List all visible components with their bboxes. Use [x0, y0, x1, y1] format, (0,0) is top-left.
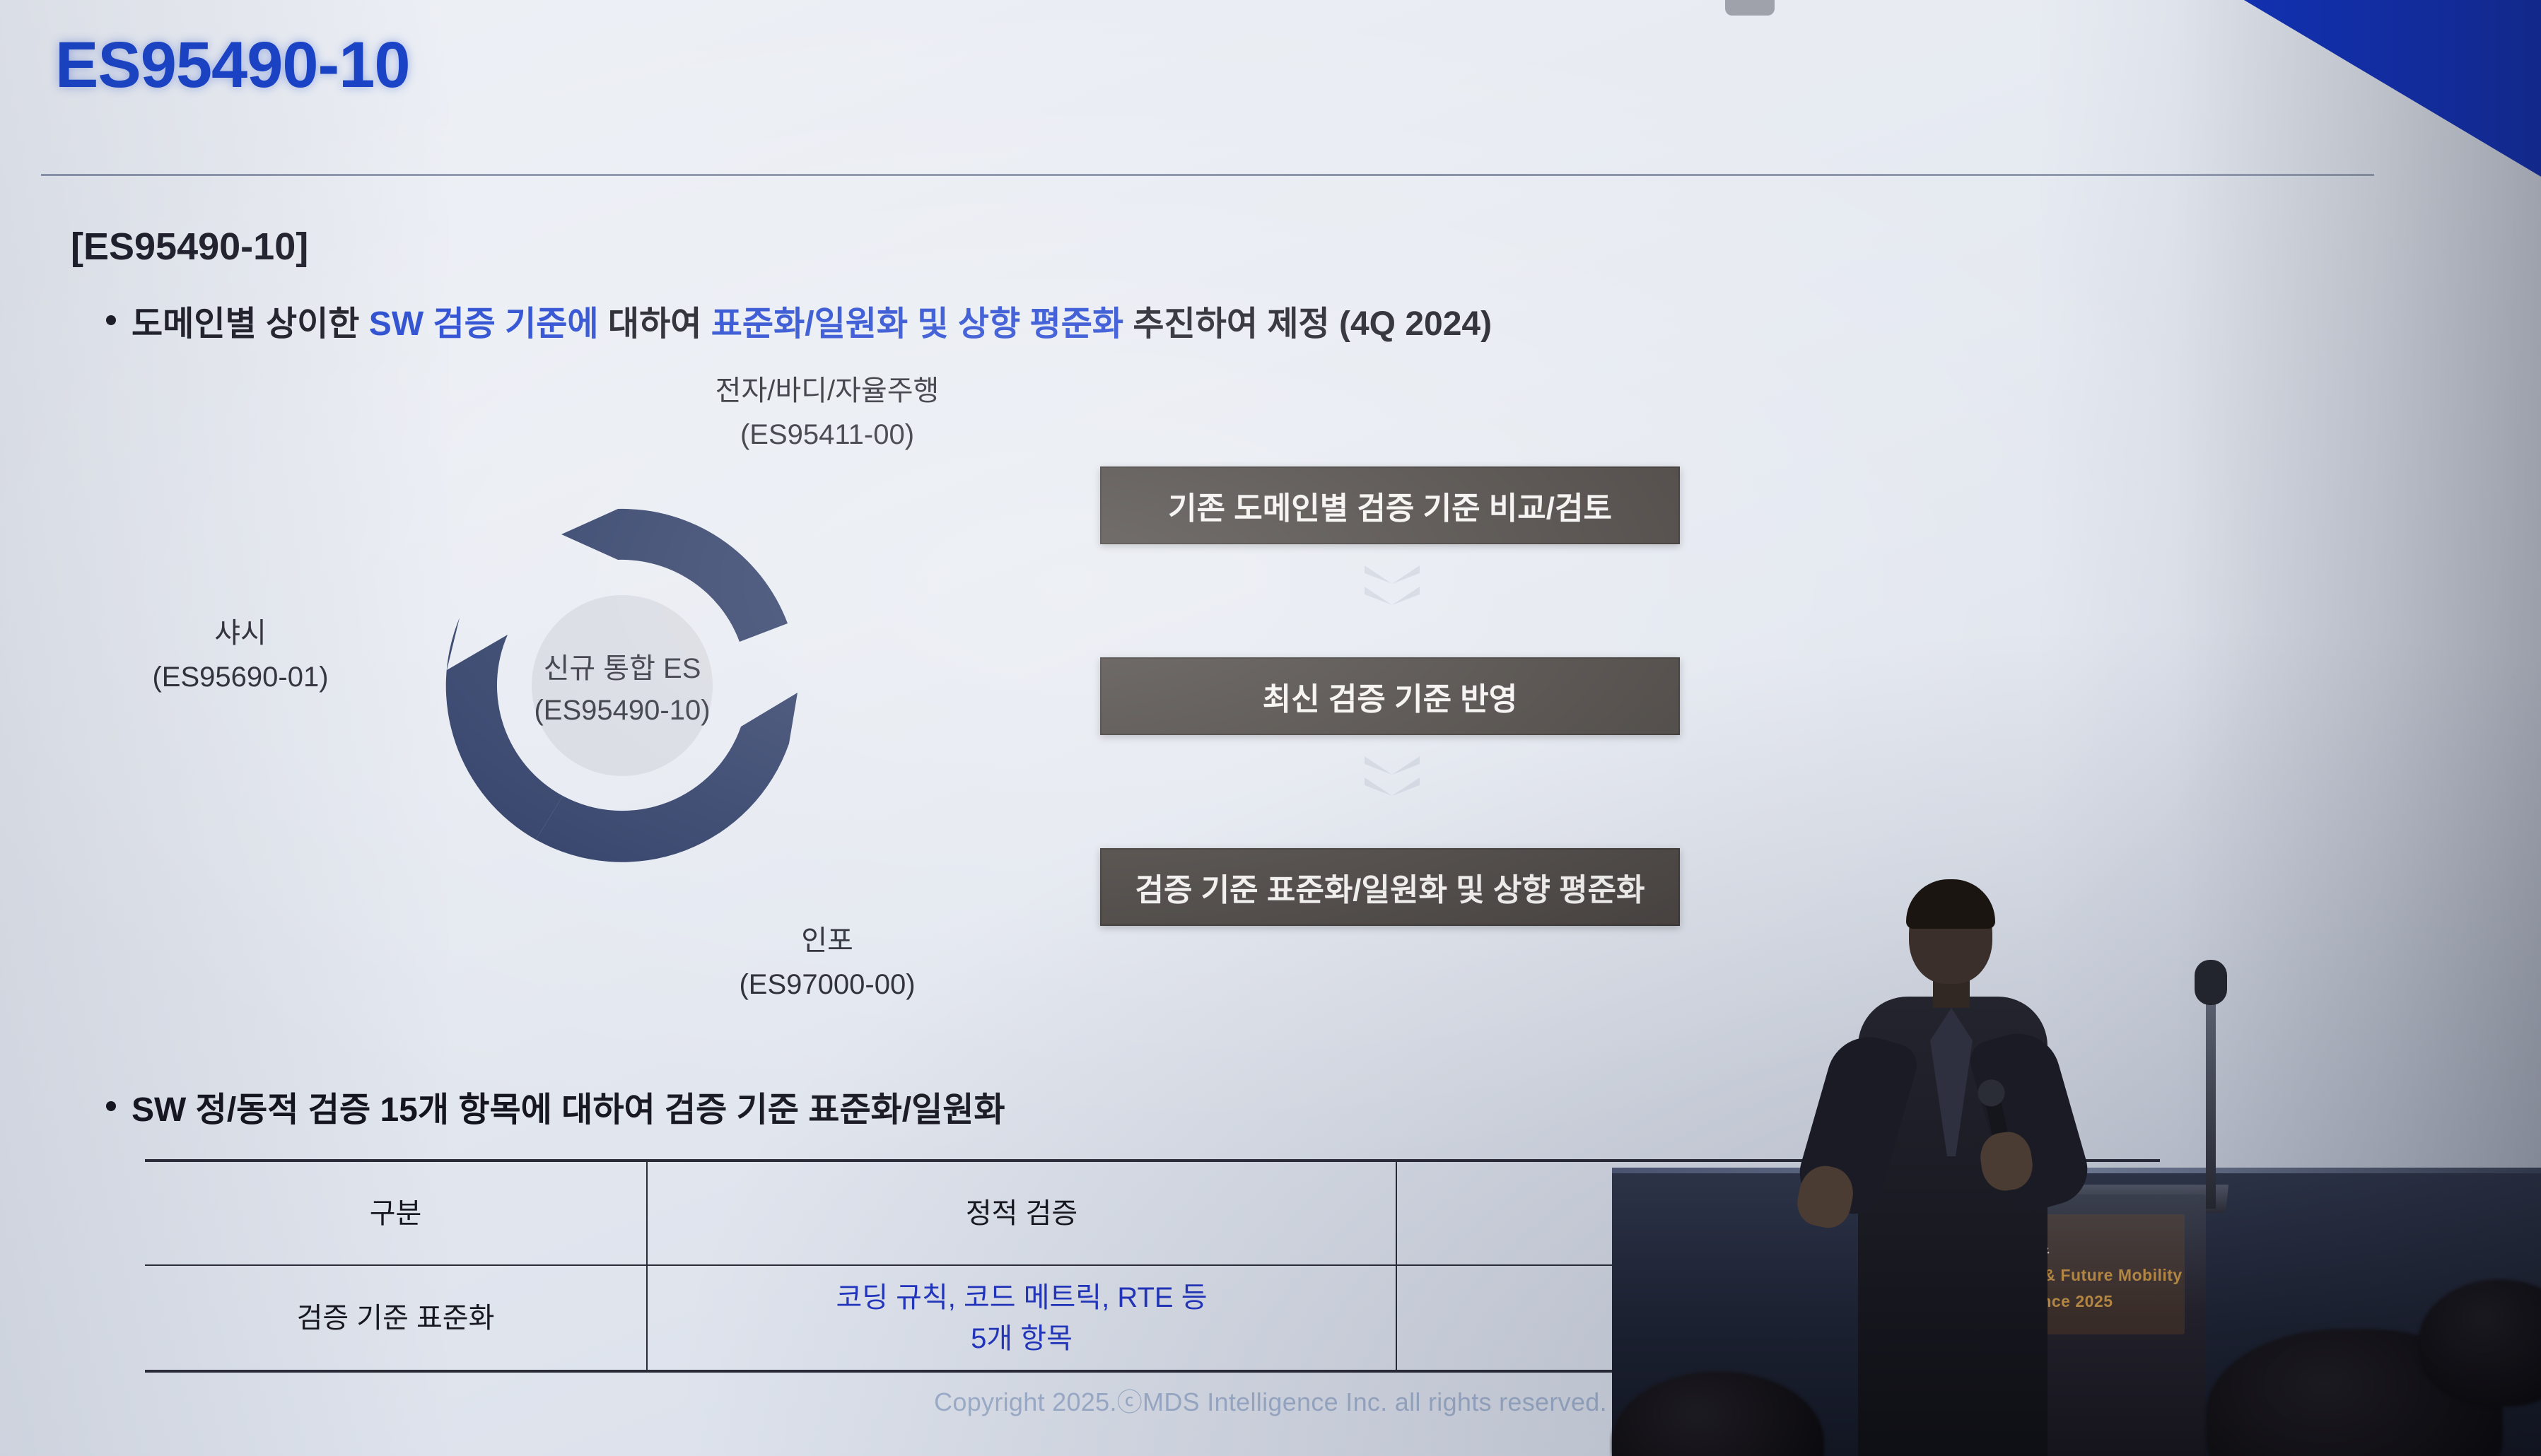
- copyright-notice: Copyright 2025.ⓒMDS Intelligence Inc. al…: [0, 1382, 2541, 1419]
- cell-dynamic-line1: 자원 사용량 검증 등: [1404, 1277, 2153, 1318]
- cell-dynamic: 자원 사용량 검증 등 8개 항목: [1396, 1265, 2160, 1371]
- cell-category: 검증 기준 표준화: [145, 1265, 647, 1371]
- cell-static-line2: 5개 항목: [655, 1318, 1389, 1359]
- flow-arrow-down-icon-2: [1365, 756, 1420, 817]
- b1-part3: [908, 305, 917, 343]
- flow-step-3: 검증 기준 표준화/일원화 및 상향 평준화: [1100, 848, 1680, 926]
- verification-criteria-table: 구분 정적 검증 동적 검증 (단위 / 통합 검증) 검증 기준 표준화 코딩…: [145, 1159, 2160, 1373]
- cycle-label-bottom-name: 인포: [679, 919, 976, 963]
- flow-step-1: 기존 도메인별 검증 기준 비교/검토: [1100, 466, 1680, 544]
- cycle-diagram: 신규 통합 ES (ES95490-10): [396, 445, 848, 926]
- bullet-item-1: 도메인별 상이한 SW 검증 기준에 대하여 표준화/일원화 및 상향 평준화 …: [106, 295, 1492, 345]
- table-body: 검증 기준 표준화 코딩 규칙, 코드 메트릭, RTE 등 5개 항목 자원 …: [145, 1265, 2160, 1371]
- cycle-label-bottom-code: (ES97000-00): [679, 963, 976, 1006]
- cycle-hub: [532, 595, 713, 776]
- b1-part2: 대하여: [599, 305, 711, 343]
- b1-part4: 추진하여 제정 (4Q 2024): [1123, 305, 1492, 343]
- corner-accent-decoration: [2244, 0, 2541, 177]
- cycle-label-top-name: 전자/바디/자율주행: [679, 369, 976, 413]
- table-row: 검증 기준 표준화 코딩 규칙, 코드 메트릭, RTE 등 5개 항목 자원 …: [145, 1265, 2160, 1371]
- projected-slide: ES95490-10 [ES95490-10] 도메인별 상이한 SW 검증 기…: [0, 0, 2541, 1456]
- section-label: [ES95490-10]: [71, 225, 308, 269]
- b1-highlight3: 및 상향 평준화: [917, 305, 1123, 343]
- bullet-item-2-text: SW 정/동적 검증 15개 항목에 대하여 검증 기준 표준화/일원화: [132, 1081, 1005, 1131]
- table-header-dynamic: 동적 검증 (단위 / 통합 검증): [1396, 1161, 2160, 1265]
- page-title: ES95490-10: [55, 28, 410, 102]
- cell-static-line1: 코딩 규칙, 코드 메트릭, RTE 등: [655, 1277, 1389, 1318]
- cell-dynamic-line2: 8개 항목: [1404, 1318, 2153, 1359]
- cycle-label-left-name: 샤시: [85, 611, 396, 655]
- table-header-dynamic-line1: 동적 검증: [1404, 1173, 2153, 1214]
- table-header-row: 구분 정적 검증 동적 검증 (단위 / 통합 검증): [145, 1161, 2160, 1265]
- bullet-dot-icon-2: [106, 1101, 116, 1111]
- cycle-label-top: 전자/바디/자율주행 (ES95411-00): [679, 369, 976, 457]
- presentation-photo: ES95490-10 [ES95490-10] 도메인별 상이한 SW 검증 기…: [0, 0, 2541, 1456]
- b1-highlight2: 표준화/일원화: [711, 305, 908, 343]
- b1-highlight1: SW 검증 기준에: [369, 305, 599, 343]
- title-divider: [41, 174, 2374, 176]
- cell-static: 코딩 규칙, 코드 메트릭, RTE 등 5개 항목: [647, 1265, 1396, 1371]
- bullet-item-1-text: 도메인별 상이한 SW 검증 기준에 대하여 표준화/일원화 및 상향 평준화 …: [132, 295, 1492, 345]
- b1-part1: 도메인별 상이한: [132, 305, 369, 343]
- flow-step-2: 최신 검증 기준 반영: [1100, 657, 1680, 735]
- table-header: 구분 정적 검증 동적 검증 (단위 / 통합 검증): [145, 1161, 2160, 1265]
- flow-arrow-down-icon-1: [1365, 565, 1420, 626]
- table-header-category: 구분: [145, 1161, 647, 1265]
- cycle-label-left: 샤시 (ES95690-01): [85, 611, 396, 699]
- table-header-static: 정적 검증: [647, 1161, 1396, 1265]
- table-header-dynamic-line2: (단위 / 통합 검증): [1404, 1214, 2153, 1255]
- cycle-label-top-code: (ES95411-00): [679, 413, 976, 457]
- cycle-label-bottom: 인포 (ES97000-00): [679, 919, 976, 1006]
- cycle-label-left-code: (ES95690-01): [85, 655, 396, 699]
- bullet-dot-icon: [106, 315, 116, 325]
- bullet-item-2: SW 정/동적 검증 15개 항목에 대하여 검증 기준 표준화/일원화: [106, 1081, 1005, 1131]
